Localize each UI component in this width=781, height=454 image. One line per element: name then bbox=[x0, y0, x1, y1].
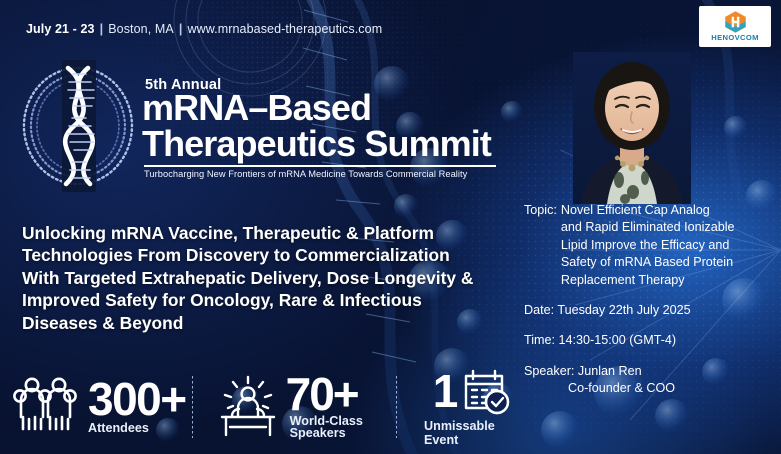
session-speaker-name: Speaker: Junlan Ren bbox=[524, 363, 774, 380]
event-logo-lockup: 5th Annual mRNA–Based Therapeutics Summi… bbox=[18, 60, 496, 192]
event-website[interactable]: www.mrnabased-therapeutics.com bbox=[187, 22, 382, 36]
stat-number: 70+ bbox=[286, 374, 398, 414]
stat-label: World-Class Speakers bbox=[290, 415, 398, 440]
event-headline: Unlocking mRNA Vaccine, Therapeutic & Pl… bbox=[22, 222, 492, 334]
stat-text: 1 Unmissable Event bbox=[424, 368, 520, 447]
event-dates: July 21 - 23 bbox=[26, 22, 95, 36]
event-tagline: Turbocharging New Frontiers of mRNA Medi… bbox=[144, 169, 496, 179]
session-date: Date: Tuesday 22th July 2025 bbox=[524, 302, 774, 319]
stat-text: 300+ Attendees bbox=[88, 379, 186, 434]
stat-number: 300+ bbox=[88, 379, 186, 419]
stat-text: 70+ World-Class Speakers bbox=[286, 374, 398, 440]
group-of-people-icon bbox=[12, 376, 82, 438]
topic-line: Novel Efficient Cap Analog bbox=[561, 203, 710, 217]
event-title-line-2: Therapeutics Summit bbox=[142, 127, 496, 162]
event-meta: July 21 - 23|Boston, MA|www.mrnabased-th… bbox=[26, 22, 382, 36]
title-underline bbox=[144, 165, 496, 167]
meta-separator-1: | bbox=[100, 22, 104, 36]
meta-separator-2: | bbox=[179, 22, 183, 36]
event-title-line-1: mRNA–Based bbox=[142, 91, 496, 126]
spacer bbox=[524, 289, 774, 302]
speaker-portrait-image bbox=[573, 52, 691, 204]
event-title-block: 5th Annual mRNA–Based Therapeutics Summi… bbox=[142, 77, 496, 179]
topic-line: Safety of mRNA Based Protein bbox=[561, 255, 733, 269]
topic-value: Novel Efficient Cap Analog and Rapid Eli… bbox=[561, 202, 774, 289]
topic-line: Replacement Therapy bbox=[561, 273, 685, 287]
sponsor-logo[interactable]: HENOVCOM bbox=[699, 6, 771, 47]
sponsor-name: HENOVCOM bbox=[711, 34, 759, 42]
spacer bbox=[524, 319, 774, 332]
stat-label: Unmissable Event bbox=[424, 419, 520, 447]
dna-helix-circle-icon bbox=[18, 60, 138, 192]
stat-item: 300+ Attendees bbox=[12, 371, 186, 443]
stat-row: 1 bbox=[433, 368, 512, 416]
session-time: Time: 14:30-15:00 (GMT-4) bbox=[524, 332, 774, 349]
topic-line: and Rapid Eliminated Ionizable bbox=[561, 220, 735, 234]
speaker-at-desk-icon bbox=[212, 375, 284, 439]
topic-label: Topic: bbox=[524, 202, 561, 289]
hexagon-h-logo-icon bbox=[724, 11, 747, 33]
topic-line: Lipid Improve the Efficacy and bbox=[561, 238, 729, 252]
stats-bar: 300+ Attendees 70+ World-Class Speakers bbox=[0, 362, 520, 452]
session-speaker-role: Co-founder & COO bbox=[568, 380, 774, 397]
stat-number: 1 bbox=[433, 371, 457, 411]
spacer bbox=[524, 350, 774, 363]
header-bar: July 21 - 23|Boston, MA|www.mrnabased-th… bbox=[0, 0, 781, 52]
calendar-check-icon bbox=[461, 368, 511, 416]
event-location: Boston, MA bbox=[108, 22, 174, 36]
stat-item: 1 Unmissable Event bbox=[424, 371, 520, 443]
session-info-panel: Topic: Novel Efficient Cap Analog and Ra… bbox=[524, 202, 774, 397]
session-topic: Topic: Novel Efficient Cap Analog and Ra… bbox=[524, 202, 774, 289]
stat-item: 70+ World-Class Speakers bbox=[212, 371, 398, 443]
stat-label: Attendees bbox=[88, 422, 186, 435]
speaker-photo bbox=[573, 52, 691, 204]
conference-poster: July 21 - 23|Boston, MA|www.mrnabased-th… bbox=[0, 0, 781, 454]
